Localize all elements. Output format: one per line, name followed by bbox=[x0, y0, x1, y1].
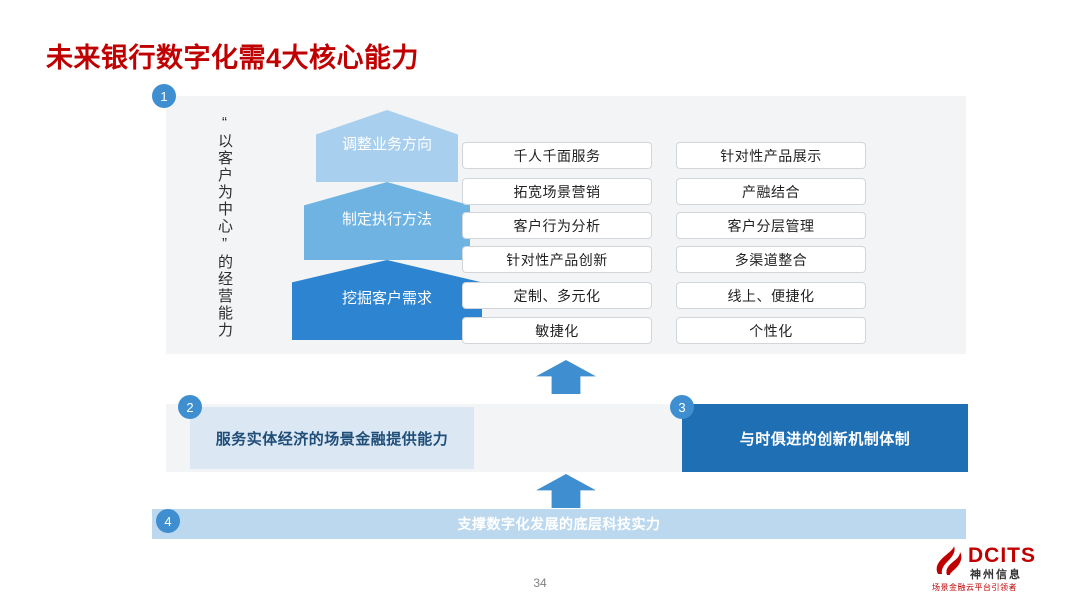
pill-left-4: 针对性产品创新 bbox=[462, 246, 652, 273]
block-number-2: 2 bbox=[178, 395, 202, 419]
block-3-box: 与时俱进的创新机制体制 bbox=[682, 404, 968, 472]
pill-left-6: 敏捷化 bbox=[462, 317, 652, 344]
pill-right-5: 线上、便捷化 bbox=[676, 282, 866, 309]
block-4-bar: 支撑数字化发展的底层科技实力 bbox=[152, 509, 966, 539]
block-number-1: 1 bbox=[152, 84, 176, 108]
pill-left-3: 客户行为分析 bbox=[462, 212, 652, 239]
page-number: 34 bbox=[0, 576, 1080, 590]
page-title: 未来银行数字化需4大核心能力 bbox=[46, 36, 419, 75]
pill-right-1: 针对性产品展示 bbox=[676, 142, 866, 169]
customer-centric-slogan: “以客户为中心”的经营能力 bbox=[190, 102, 236, 350]
pill-left-1: 千人千面服务 bbox=[462, 142, 652, 169]
logo-tagline: 场景金融云平台引领者 bbox=[932, 582, 1017, 593]
up-arrow-lower bbox=[536, 474, 596, 508]
slide-canvas: 未来银行数字化需4大核心能力 1 “以客户为中心”的经营能力 调整业务方向 制定… bbox=[0, 0, 1080, 608]
logo-brand-chinese: 神州信息 bbox=[970, 566, 1022, 582]
pill-left-2: 拓宽场景营销 bbox=[462, 178, 652, 205]
flame-logo-icon bbox=[932, 546, 966, 576]
block-number-3: 3 bbox=[670, 395, 694, 419]
pill-right-6: 个性化 bbox=[676, 317, 866, 344]
pill-right-3: 客户分层管理 bbox=[676, 212, 866, 239]
block-number-4: 4 bbox=[156, 509, 180, 533]
up-arrow-upper bbox=[536, 360, 596, 394]
block-2-box: 服务实体经济的场景金融提供能力 bbox=[190, 407, 474, 469]
company-logo: DCITS 神州信息 场景金融云平台引领者 bbox=[932, 544, 1062, 596]
pill-left-5: 定制、多元化 bbox=[462, 282, 652, 309]
pill-right-2: 产融结合 bbox=[676, 178, 866, 205]
pill-right-4: 多渠道整合 bbox=[676, 246, 866, 273]
logo-brand-name: DCITS bbox=[968, 544, 1036, 568]
